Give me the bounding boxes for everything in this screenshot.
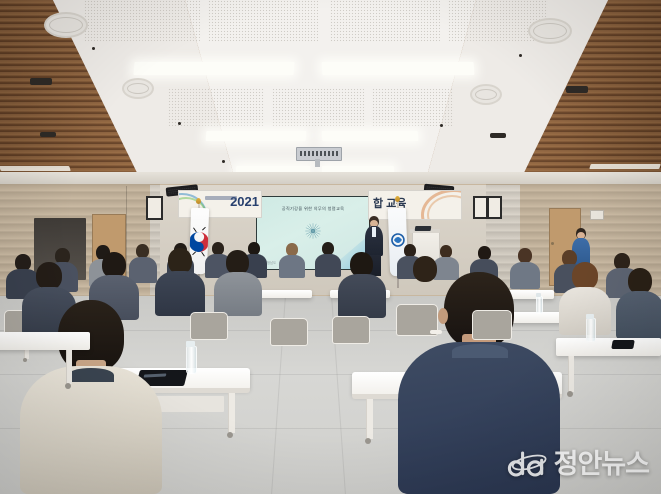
recessed-downlight xyxy=(440,124,443,127)
chair-backrest xyxy=(332,316,370,344)
water-bottle[interactable] xyxy=(586,318,596,342)
photo-scene: 공직기강을 위한 의무의 청렴교육 충청남도 2021 합 교육 xyxy=(0,0,661,494)
led-linear-panel xyxy=(206,131,307,141)
acoustic-perforation xyxy=(168,88,264,126)
acoustic-perforation xyxy=(208,0,318,42)
desk-caster xyxy=(227,432,233,438)
attendee-head xyxy=(36,262,62,290)
ceiling-diffuser xyxy=(122,78,154,99)
watermark-text: 정안뉴스 xyxy=(554,451,649,478)
acoustic-perforation xyxy=(84,0,200,42)
foreground-desk-far-right xyxy=(556,338,661,408)
desk-leg xyxy=(568,356,574,392)
attendee-head xyxy=(518,248,532,263)
presenter-shirt xyxy=(372,227,376,237)
desk-leg xyxy=(66,350,72,384)
attendee-head xyxy=(572,262,598,290)
framed-notice-left xyxy=(146,196,163,220)
ceiling-diffuser xyxy=(44,12,88,38)
attendee-mid-8 xyxy=(616,268,661,338)
attendee-torso xyxy=(559,287,611,335)
foreground-desk-far-left xyxy=(0,332,96,402)
projector-mount xyxy=(315,159,320,167)
desk-leg xyxy=(228,393,235,433)
attendee-torso xyxy=(214,272,262,316)
lectern-laptop xyxy=(415,226,432,231)
slat-downlight xyxy=(566,86,588,93)
attendee-torso xyxy=(616,291,661,339)
ceiling-diffuser xyxy=(470,84,502,105)
slide-emblem-icon xyxy=(302,220,324,242)
desk-caster xyxy=(65,383,71,389)
framed-notice-right-2 xyxy=(487,196,502,219)
attendee-mid-4 xyxy=(212,250,264,314)
mesh-office-chair[interactable] xyxy=(268,318,308,364)
slat-edge-light xyxy=(589,164,661,169)
wall-soffit xyxy=(0,172,661,184)
slide-title: 공직기강을 위한 의무의 청렴교육 xyxy=(266,206,360,212)
slat-downlight xyxy=(490,133,506,138)
led-linear-panel xyxy=(322,131,419,141)
desk-caster xyxy=(365,438,371,444)
exit-sign-right xyxy=(590,210,604,220)
acoustic-perforation xyxy=(330,0,440,42)
attendee-torso xyxy=(338,274,386,318)
attendee-head xyxy=(478,246,491,260)
recessed-downlight xyxy=(519,54,522,57)
acoustic-perforation xyxy=(372,88,454,126)
desk-leg xyxy=(366,399,373,439)
recessed-downlight xyxy=(222,160,225,163)
acoustic-perforation xyxy=(272,88,364,126)
slat-downlight xyxy=(40,132,56,137)
led-linear-panel xyxy=(133,62,294,75)
ceiling xyxy=(0,0,661,190)
chair-backrest xyxy=(190,312,228,340)
conference-desk xyxy=(556,338,661,356)
led-linear-panel xyxy=(322,62,475,75)
slat-downlight xyxy=(30,78,52,85)
watermark: 정안뉴스 xyxy=(505,448,649,480)
mesh-office-chair[interactable] xyxy=(188,312,228,358)
slat-edge-light xyxy=(0,166,71,171)
ceiling-diffuser xyxy=(528,18,572,44)
conference-desk xyxy=(0,332,90,350)
attendee-torso xyxy=(279,255,305,278)
attendee-ear xyxy=(438,308,448,324)
mesh-office-chair[interactable] xyxy=(470,310,512,358)
recessed-downlight xyxy=(178,122,181,125)
bottle-cap xyxy=(586,314,594,319)
framed-notice-right xyxy=(473,196,488,219)
phone[interactable] xyxy=(611,340,635,349)
attendee-mid-5 xyxy=(336,252,388,316)
mesh-office-chair[interactable] xyxy=(330,316,370,362)
desk-caster xyxy=(567,391,573,397)
chair-backrest xyxy=(270,318,308,346)
recessed-downlight xyxy=(92,47,95,50)
chair-backrest xyxy=(472,310,512,340)
da-monogram-icon xyxy=(505,448,549,480)
